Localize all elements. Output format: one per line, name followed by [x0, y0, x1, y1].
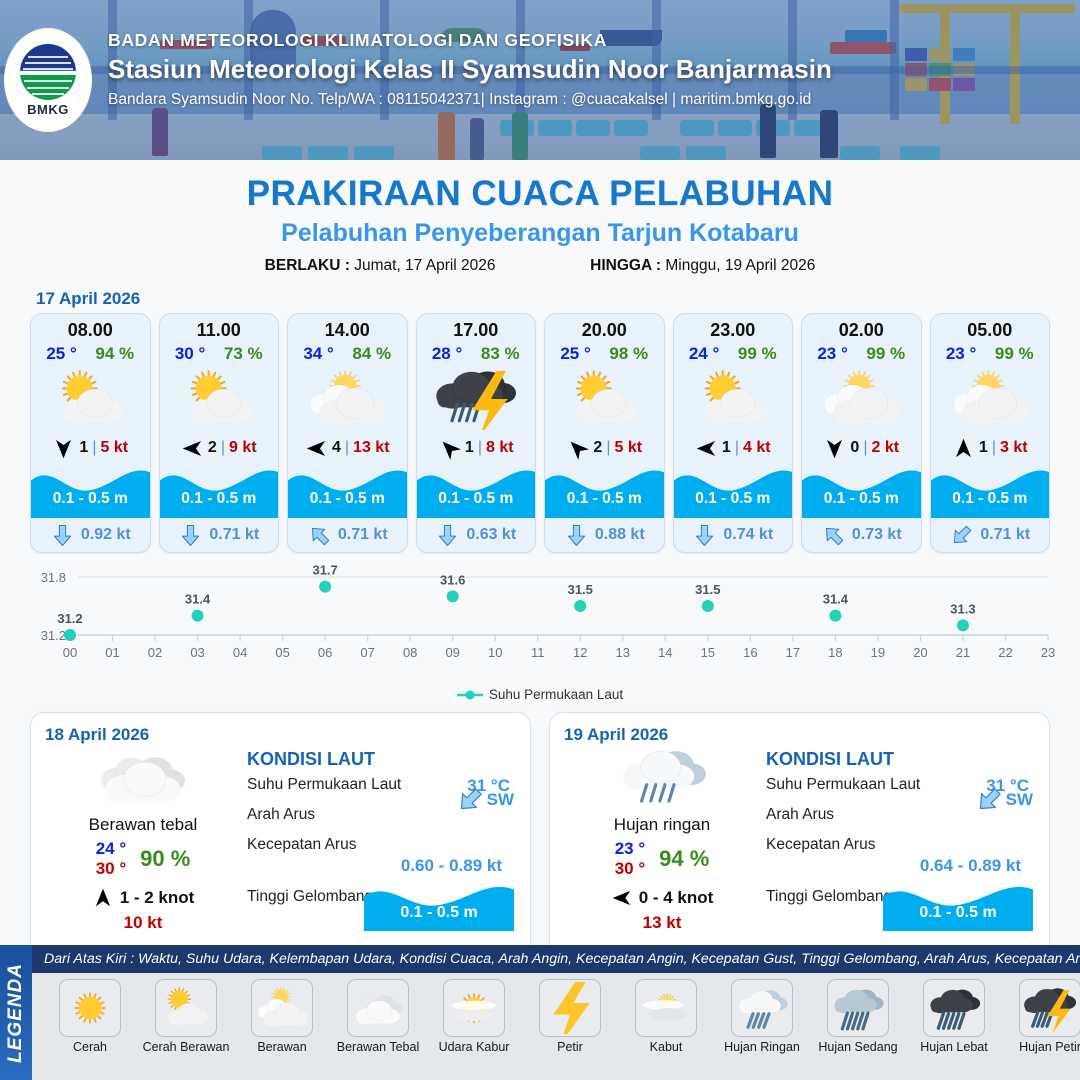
legend-icon-cerah-berawan	[155, 979, 217, 1037]
current-direction-value-group: SW	[974, 785, 1033, 815]
svg-text:11: 11	[531, 645, 545, 660]
legend-item[interactable]: Hujan Ringan	[714, 979, 810, 1054]
hourly-card[interactable]: 17.00 28 ° 83 % 1 | 8 kt 0.1 - 0.5 m	[416, 313, 537, 553]
card-wave-height: 0.1 - 0.5 m	[674, 490, 793, 508]
svg-text:21: 21	[956, 645, 970, 660]
sst-chart-svg: 31.831.200010203040506070809101112131415…	[18, 563, 1062, 683]
bmkg-logo-text: BMKG	[27, 102, 69, 117]
legend-note: Dari Atas Kiri : Waktu, Suhu Udara, Kele…	[32, 945, 1080, 973]
legend-item-label: Udara Kabur	[426, 1040, 522, 1054]
legend-item[interactable]: Berawan Tebal	[330, 979, 426, 1054]
daily-forecast-card[interactable]: 18 April 2026 Berawan tebal 24 ° 30 °	[30, 712, 531, 957]
card-wind-scale: 1	[465, 439, 474, 457]
card-weather-icon-cerah-berawan	[160, 366, 279, 432]
card-wave-height: 0.1 - 0.5 m	[417, 490, 536, 508]
card-wave-band: 0.1 - 0.5 m	[545, 462, 664, 518]
card-wave-height: 0.1 - 0.5 m	[931, 490, 1050, 508]
card-humidity: 94 %	[95, 344, 134, 364]
sea-condition-title: KONDISI LAUT	[766, 749, 1035, 770]
legend-icon-petir	[539, 979, 601, 1037]
wind-direction-arrow-icon	[438, 437, 461, 460]
legend-item-label: Berawan Tebal	[330, 1040, 426, 1054]
legend-item[interactable]: Udara Kabur	[426, 979, 522, 1054]
svg-text:16: 16	[743, 645, 757, 660]
legend-item-label: Hujan Ringan	[714, 1040, 810, 1054]
legend-marker-icon	[457, 689, 483, 701]
legend-item-label: Kabut	[618, 1040, 714, 1054]
card-current-row: 0.71 kt	[931, 518, 1050, 552]
daily-temp-max: 30 °	[96, 859, 126, 879]
card-gust: 3 kt	[1000, 439, 1028, 457]
wind-direction-arrow-icon	[823, 437, 846, 460]
card-time: 11.00	[160, 320, 279, 341]
card-weather-icon-hujan-petir	[417, 366, 536, 432]
legend-icon-hujan-sedang	[827, 979, 889, 1037]
legend-item[interactable]: Kabut	[618, 979, 714, 1054]
daily-wind-range: 0 - 4 knot	[639, 888, 714, 908]
organization-name: BADAN METEOROLOGI KLIMATOLOGI DAN GEOFIS…	[108, 30, 832, 51]
svg-text:13: 13	[616, 645, 630, 660]
daily-humidity: 90 %	[140, 846, 190, 872]
current-direction-arrow-icon	[949, 523, 974, 548]
card-current-speed: 0.74 kt	[723, 526, 773, 544]
svg-text:31.2: 31.2	[57, 611, 82, 626]
card-separator: |	[345, 439, 349, 457]
legend-side-tab: LEGENDA	[0, 945, 32, 1080]
card-weather-icon-berawan	[288, 366, 407, 432]
legend-icon-hujan-petir	[1019, 979, 1080, 1037]
card-time: 05.00	[931, 320, 1050, 341]
card-current-row: 0.88 kt	[545, 518, 664, 552]
card-current-speed: 0.71 kt	[338, 526, 388, 544]
svg-text:18: 18	[828, 645, 842, 660]
daily-forecast-card[interactable]: 19 April 2026 Hujan ringan 23 ° 30 ° 94 …	[549, 712, 1050, 957]
legend-icon-berawan	[251, 979, 313, 1037]
wind-direction-arrow-icon	[695, 437, 718, 460]
legend-item[interactable]: Cerah Berawan	[138, 979, 234, 1054]
card-humidity: 84 %	[352, 344, 391, 364]
card-wind-row: 0 | 2 kt	[802, 432, 921, 464]
card-wave-band: 0.1 - 0.5 m	[417, 462, 536, 518]
daily-temp-max: 30 °	[615, 859, 645, 879]
card-humidity: 99 %	[738, 344, 777, 364]
card-current-speed: 0.92 kt	[81, 526, 131, 544]
svg-text:31.6: 31.6	[440, 572, 465, 587]
card-current-row: 0.63 kt	[417, 518, 536, 552]
card-current-row: 0.92 kt	[31, 518, 150, 552]
hourly-card[interactable]: 20.00 25 ° 98 % 2 | 5 kt 0.1 - 0.5 m 0.8	[544, 313, 665, 553]
card-wave-height: 0.1 - 0.5 m	[160, 490, 279, 508]
card-humidity: 83 %	[481, 344, 520, 364]
card-wind-row: 1 | 5 kt	[31, 432, 150, 464]
daily-humidity: 94 %	[659, 846, 709, 872]
card-weather-icon-cerah-berawan	[674, 366, 793, 432]
wind-direction-arrow-icon	[181, 437, 204, 460]
daily-wind-row: 0 - 4 knot	[564, 887, 760, 909]
current-speed-label: Kecepatan Arus	[247, 836, 516, 854]
svg-text:23: 23	[1041, 645, 1055, 660]
hourly-card[interactable]: 05.00 23 ° 99 % 1 | 3 kt 0.1 - 0.5 m	[930, 313, 1051, 553]
card-wind-scale: 2	[208, 439, 217, 457]
card-current-speed: 0.71 kt	[980, 526, 1030, 544]
legend-item[interactable]: Hujan Sedang	[810, 979, 906, 1054]
hourly-card[interactable]: 02.00 23 ° 99 % 0 | 2 kt 0.1 - 0.5 m	[801, 313, 922, 553]
hourly-card[interactable]: 08.00 25 ° 94 % 1 | 5 kt 0.1 - 0.5 m 0.9	[30, 313, 151, 553]
hourly-card[interactable]: 14.00 34 ° 84 % 4 | 13 kt 0.1 - 0.5 m	[287, 313, 408, 553]
card-gust: 2 kt	[871, 439, 899, 457]
card-time: 14.00	[288, 320, 407, 341]
card-temperature: 24 °	[689, 344, 719, 364]
wind-direction-arrow-icon	[52, 437, 75, 460]
legend-item[interactable]: Cerah	[42, 979, 138, 1054]
card-separator: |	[863, 439, 867, 457]
infographic-page: BMKG BADAN METEOROLOGI KLIMATOLOGI DAN G…	[0, 0, 1080, 1080]
card-time: 20.00	[545, 320, 664, 341]
svg-text:31.5: 31.5	[695, 582, 720, 597]
card-humidity: 99 %	[995, 344, 1034, 364]
card-wind-row: 2 | 9 kt	[160, 432, 279, 464]
card-wind-row: 1 | 3 kt	[931, 432, 1050, 464]
current-direction-arrow-icon	[435, 523, 460, 548]
legend-item-label: Berawan	[234, 1040, 330, 1054]
card-weather-icon-berawan	[931, 366, 1050, 432]
legend-side-label: LEGENDA	[5, 963, 27, 1063]
current-speed-value: 0.60 - 0.89 kt	[247, 856, 516, 876]
valid-from-value: Jumat, 17 April 2026	[354, 257, 495, 275]
card-wind-scale: 1	[979, 439, 988, 457]
svg-text:15: 15	[701, 645, 715, 660]
card-current-row: 0.71 kt	[288, 518, 407, 552]
svg-text:31.2: 31.2	[41, 628, 66, 643]
wind-direction-arrow-icon	[611, 887, 633, 909]
legend-item[interactable]: Petir	[522, 979, 618, 1054]
card-time: 17.00	[417, 320, 536, 341]
card-wave-band: 0.1 - 0.5 m	[288, 462, 407, 518]
card-wave-band: 0.1 - 0.5 m	[931, 462, 1050, 518]
header-text-block: BADAN METEOROLOGI KLIMATOLOGI DAN GEOFIS…	[108, 30, 832, 109]
legend-item-label: Hujan Sedang	[810, 1040, 906, 1054]
card-temperature: 25 °	[560, 344, 590, 364]
chart-legend-label: Suhu Permukaan Laut	[489, 687, 623, 702]
svg-text:02: 02	[148, 645, 162, 660]
hourly-date-label: 17 April 2026	[36, 289, 1080, 309]
page-title: PRAKIRAAN CUACA PELABUHAN	[0, 174, 1080, 214]
current-direction-arrow-icon	[307, 523, 332, 548]
daily-wave-band: 0.1 - 0.5 m	[364, 879, 514, 931]
legend-icon-hujan-lebat	[923, 979, 985, 1037]
card-weather-icon-cerah-berawan	[545, 366, 664, 432]
sea-condition-title: KONDISI LAUT	[247, 749, 516, 770]
wind-direction-arrow-icon	[92, 887, 114, 909]
daily-forecast-row: 18 April 2026 Berawan tebal 24 ° 30 °	[0, 702, 1080, 957]
card-wind-row: 1 | 8 kt	[417, 432, 536, 464]
svg-text:22: 22	[998, 645, 1012, 660]
card-current-speed: 0.88 kt	[595, 526, 645, 544]
daily-weather-icon-hujan-ringan	[564, 747, 760, 809]
valid-from-label: BERLAKU :	[265, 257, 350, 274]
validity-row: BERLAKU : Jumat, 17 April 2026 HINGGA : …	[0, 257, 1080, 275]
legend-item[interactable]: Hujan Lebat	[906, 979, 1002, 1054]
card-current-speed: 0.73 kt	[852, 526, 902, 544]
svg-text:12: 12	[573, 645, 587, 660]
legend-item[interactable]: Berawan	[234, 979, 330, 1054]
legend-icon-cerah	[59, 979, 121, 1037]
card-wind-scale: 2	[593, 439, 602, 457]
card-wind-scale: 1	[79, 439, 88, 457]
contact-info: Bandara Syamsudin Noor No. Telp/WA : 081…	[108, 91, 832, 109]
current-direction-arrow-icon	[50, 523, 75, 548]
legend-icon-berawan-tebal	[347, 979, 409, 1037]
daily-gust: 10 kt	[45, 913, 241, 933]
daily-weather-icon-berawan-tebal	[45, 747, 241, 809]
svg-text:06: 06	[318, 645, 332, 660]
card-gust: 5 kt	[100, 439, 128, 457]
card-time: 23.00	[674, 320, 793, 341]
wind-direction-arrow-icon	[566, 437, 589, 460]
card-current-row: 0.74 kt	[674, 518, 793, 552]
svg-text:05: 05	[275, 645, 289, 660]
card-humidity: 73 %	[224, 344, 263, 364]
card-separator: |	[992, 439, 996, 457]
card-wind-row: 2 | 5 kt	[545, 432, 664, 464]
svg-text:03: 03	[190, 645, 204, 660]
card-wind-scale: 0	[850, 439, 859, 457]
sst-chart: 31.831.200010203040506070809101112131415…	[18, 563, 1062, 683]
legend-icon-udara-kabur	[443, 979, 505, 1037]
card-wind-row: 4 | 13 kt	[288, 432, 407, 464]
card-wind-scale: 1	[722, 439, 731, 457]
card-temperature: 23 °	[817, 344, 847, 364]
daily-date: 19 April 2026	[564, 725, 1035, 745]
current-direction-arrow-icon	[692, 523, 717, 548]
card-temperature: 30 °	[175, 344, 205, 364]
card-gust: 13 kt	[353, 439, 389, 457]
svg-text:31.4: 31.4	[823, 592, 849, 607]
daily-wave-value: 0.1 - 0.5 m	[883, 904, 1033, 922]
sst-label: Suhu Permukaan Laut	[766, 776, 920, 793]
card-temperature: 28 °	[432, 344, 462, 364]
valid-until-value: Minggu, 19 April 2026	[665, 257, 815, 275]
legend-main: Dari Atas Kiri : Waktu, Suhu Udara, Kele…	[32, 945, 1080, 1080]
legend-item-label: Hujan Petir	[1002, 1040, 1080, 1054]
station-name: Stasiun Meteorologi Kelas II Syamsudin N…	[108, 54, 832, 85]
card-current-speed: 0.71 kt	[209, 526, 259, 544]
daily-gust: 13 kt	[564, 913, 760, 933]
current-speed-value: 0.64 - 0.89 kt	[766, 856, 1035, 876]
card-gust: 5 kt	[614, 439, 642, 457]
card-wave-band: 0.1 - 0.5 m	[802, 462, 921, 518]
title-block: PRAKIRAAN CUACA PELABUHAN Pelabuhan Peny…	[0, 160, 1080, 275]
card-separator: |	[221, 439, 225, 457]
current-direction-arrow-icon	[821, 523, 846, 548]
current-direction-arrow-icon	[974, 785, 1004, 815]
card-separator: |	[735, 439, 739, 457]
legend-strip: LEGENDA Dari Atas Kiri : Waktu, Suhu Uda…	[0, 945, 1080, 1080]
valid-until-label: HINGGA :	[590, 257, 661, 274]
legend-item-label: Cerah	[42, 1040, 138, 1054]
legend-items: Cerah Cerah Berawan Berawan	[32, 973, 1080, 1054]
card-wave-height: 0.1 - 0.5 m	[288, 490, 407, 508]
svg-text:19: 19	[871, 645, 885, 660]
chart-legend: Suhu Permukaan Laut	[0, 687, 1080, 702]
svg-text:14: 14	[658, 645, 672, 660]
card-separator: |	[92, 439, 96, 457]
svg-text:20: 20	[913, 645, 927, 660]
hourly-card[interactable]: 23.00 24 ° 99 % 1 | 4 kt 0.1 - 0.5 m 0.7	[673, 313, 794, 553]
daily-wind-range: 1 - 2 knot	[120, 888, 195, 908]
daily-wave-band: 0.1 - 0.5 m	[883, 879, 1033, 931]
svg-text:04: 04	[233, 645, 247, 660]
card-current-row: 0.73 kt	[802, 518, 921, 552]
current-direction-arrow-icon	[455, 785, 485, 815]
card-gust: 9 kt	[229, 439, 257, 457]
hourly-card[interactable]: 11.00 30 ° 73 % 2 | 9 kt 0.1 - 0.5 m 0.7	[159, 313, 280, 553]
legend-item-label: Hujan Lebat	[906, 1040, 1002, 1054]
sst-label: Suhu Permukaan Laut	[247, 776, 401, 793]
card-wave-band: 0.1 - 0.5 m	[31, 462, 150, 518]
wind-direction-arrow-icon	[305, 437, 328, 460]
daily-temp-min: 24 °	[96, 839, 126, 859]
card-humidity: 98 %	[609, 344, 648, 364]
wind-direction-arrow-icon	[952, 437, 975, 460]
legend-item-label: Petir	[522, 1040, 618, 1054]
svg-text:08: 08	[403, 645, 417, 660]
card-wave-height: 0.1 - 0.5 m	[31, 490, 150, 508]
card-temperature: 34 °	[303, 344, 333, 364]
current-direction-arrow-icon	[178, 523, 203, 548]
svg-text:00: 00	[63, 645, 77, 660]
svg-text:31.4: 31.4	[185, 592, 211, 607]
card-temperature: 25 °	[46, 344, 76, 364]
daily-condition: Berawan tebal	[45, 815, 241, 835]
bmkg-globe-icon	[20, 44, 76, 100]
svg-text:10: 10	[488, 645, 502, 660]
svg-text:31.3: 31.3	[950, 601, 975, 616]
legend-icon-hujan-ringan	[731, 979, 793, 1037]
legend-item-label: Cerah Berawan	[138, 1040, 234, 1054]
svg-text:09: 09	[445, 645, 459, 660]
card-separator: |	[606, 439, 610, 457]
card-current-speed: 0.63 kt	[466, 526, 516, 544]
svg-text:17: 17	[786, 645, 800, 660]
card-time: 02.00	[802, 320, 921, 341]
card-wave-height: 0.1 - 0.5 m	[545, 490, 664, 508]
card-weather-icon-berawan	[802, 366, 921, 432]
card-gust: 4 kt	[743, 439, 771, 457]
daily-temp-min: 23 °	[615, 839, 645, 859]
card-wave-band: 0.1 - 0.5 m	[160, 462, 279, 518]
legend-icon-kabut	[635, 979, 697, 1037]
current-direction-value-group: SW	[455, 785, 514, 815]
page-header: BMKG BADAN METEOROLOGI KLIMATOLOGI DAN G…	[0, 0, 1080, 160]
card-current-row: 0.71 kt	[160, 518, 279, 552]
current-direction-arrow-icon	[564, 523, 589, 548]
card-humidity: 99 %	[866, 344, 905, 364]
daily-wave-value: 0.1 - 0.5 m	[364, 904, 514, 922]
card-wind-row: 1 | 4 kt	[674, 432, 793, 464]
card-time: 08.00	[31, 320, 150, 341]
svg-text:01: 01	[105, 645, 119, 660]
daily-condition: Hujan ringan	[564, 815, 760, 835]
card-gust: 8 kt	[486, 439, 514, 457]
page-subtitle: Pelabuhan Penyeberangan Tarjun Kotabaru	[0, 219, 1080, 248]
card-weather-icon-cerah-berawan	[31, 366, 150, 432]
card-wind-scale: 4	[332, 439, 341, 457]
card-separator: |	[478, 439, 482, 457]
current-speed-label: Kecepatan Arus	[766, 836, 1035, 854]
svg-text:31.8: 31.8	[41, 570, 66, 585]
svg-text:07: 07	[360, 645, 374, 660]
svg-text:31.5: 31.5	[568, 582, 593, 597]
card-wave-band: 0.1 - 0.5 m	[674, 462, 793, 518]
legend-item[interactable]: Hujan Petir	[1002, 979, 1080, 1054]
card-temperature: 23 °	[946, 344, 976, 364]
card-wave-height: 0.1 - 0.5 m	[802, 490, 921, 508]
daily-date: 18 April 2026	[45, 725, 516, 745]
hourly-forecast-row: 08.00 25 ° 94 % 1 | 5 kt 0.1 - 0.5 m 0.9	[0, 313, 1080, 553]
svg-text:31.7: 31.7	[312, 563, 337, 578]
daily-wind-row: 1 - 2 knot	[45, 887, 241, 909]
bmkg-logo: BMKG	[4, 28, 92, 132]
